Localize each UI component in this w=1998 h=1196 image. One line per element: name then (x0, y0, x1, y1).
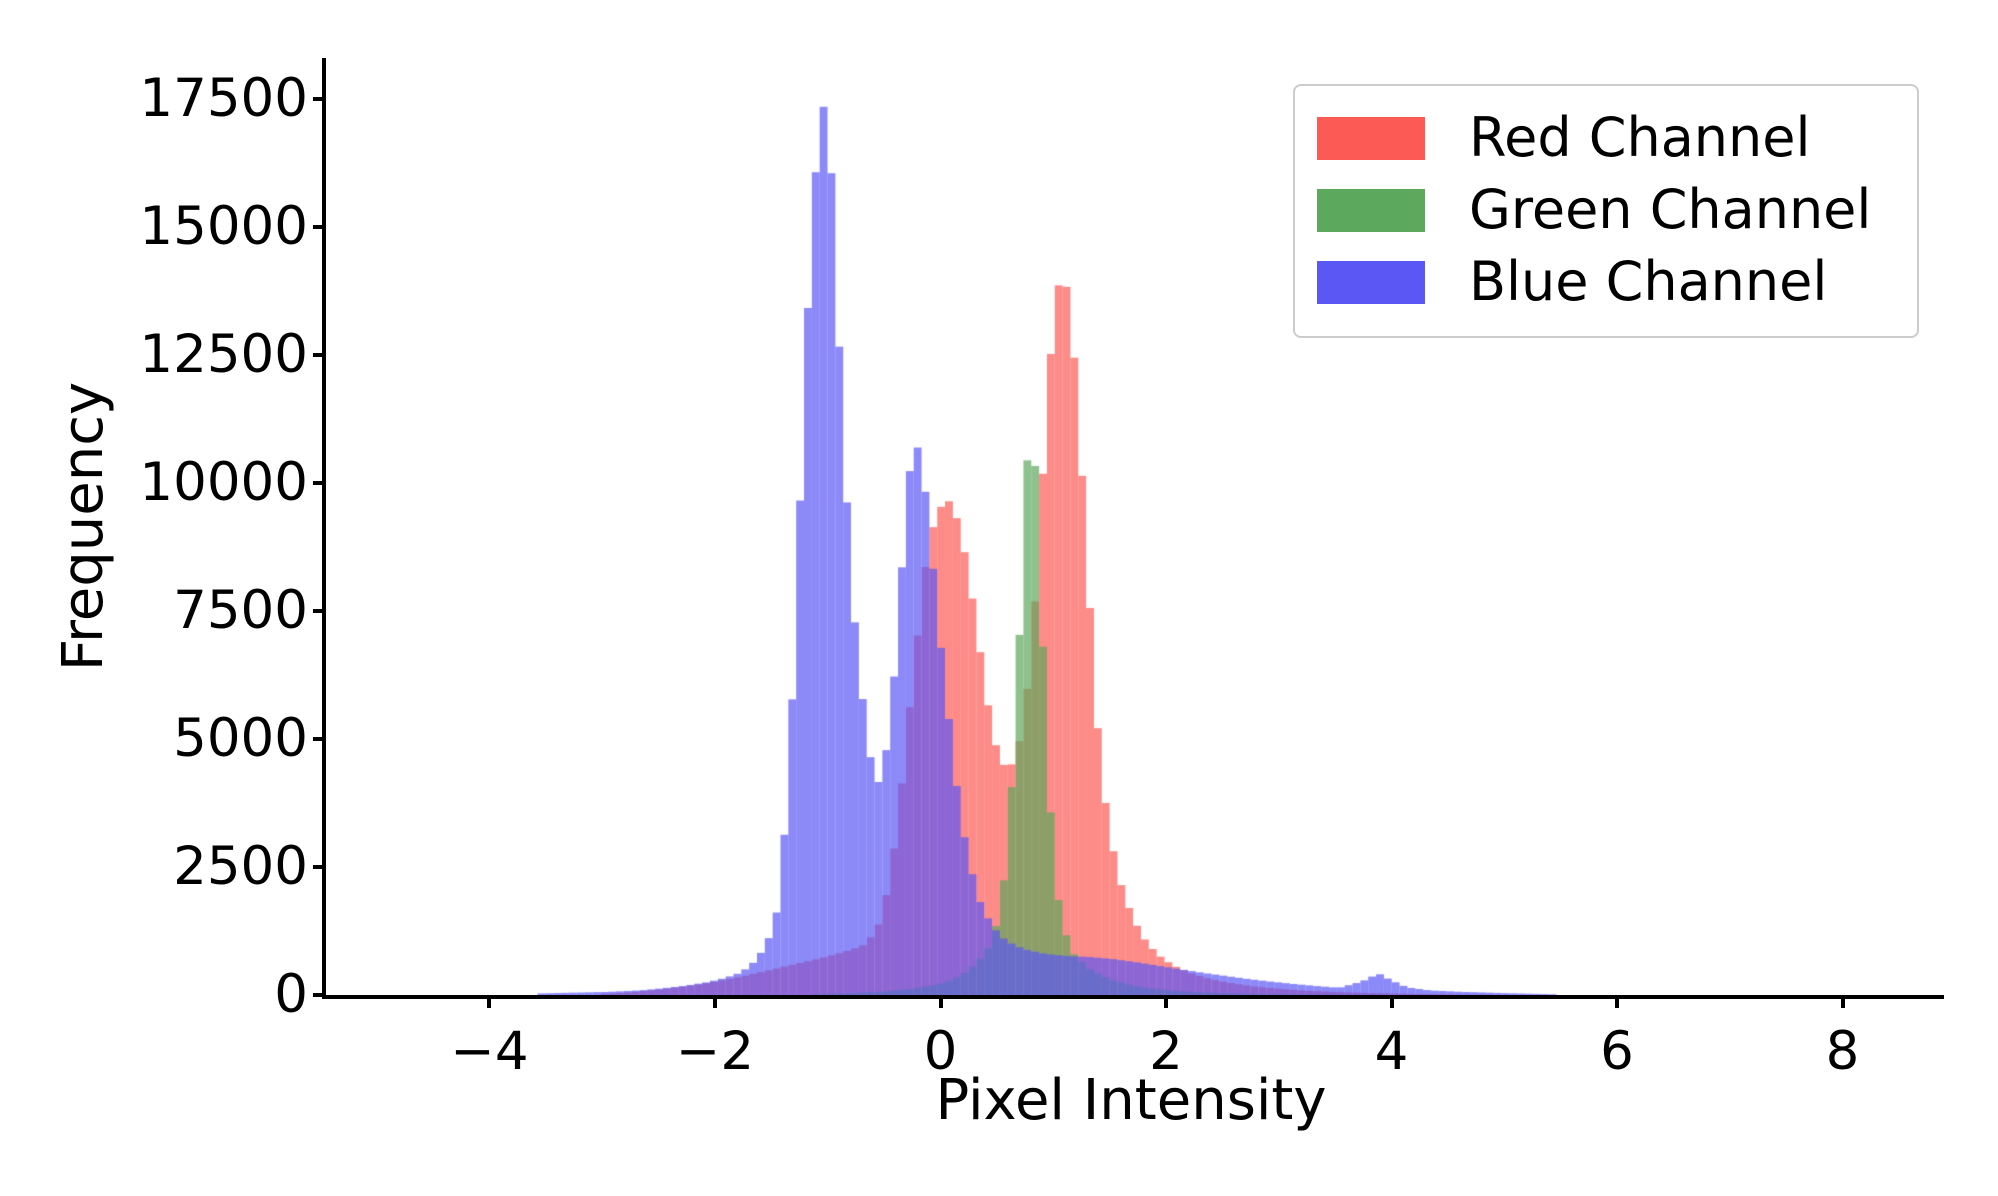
y-tick-mark (313, 97, 326, 101)
y-tick-mark (313, 865, 326, 869)
x-tick-mark (1841, 995, 1845, 1008)
y-tick-mark (313, 993, 326, 997)
y-tick-mark (313, 225, 326, 229)
x-tick-mark (1615, 995, 1619, 1008)
legend-swatch-red (1317, 117, 1425, 160)
x-tick-mark (713, 995, 717, 1008)
x-tick-mark (1164, 995, 1168, 1008)
legend-item-red-channel: Red Channel (1317, 102, 1895, 174)
y-axis-label-text: Frequency (52, 382, 117, 671)
legend-item-blue-channel: Blue Channel (1317, 246, 1895, 318)
y-tick-mark (313, 609, 326, 613)
y-tick-mark (313, 481, 326, 485)
chart-legend: Red Channel Green Channel Blue Channel (1293, 84, 1919, 338)
legend-label-green: Green Channel (1469, 183, 1871, 237)
histogram-figure: Frequency 025005000750010000125001500017… (0, 0, 1998, 1196)
x-axis-label: Pixel Intensity (322, 1068, 1940, 1133)
legend-swatch-green (1317, 189, 1425, 232)
legend-label-red: Red Channel (1469, 111, 1810, 165)
legend-label-blue: Blue Channel (1469, 255, 1827, 309)
x-tick-mark (939, 995, 943, 1008)
y-tick-mark (313, 737, 326, 741)
y-tick-mark (313, 353, 326, 357)
x-tick-mark (1390, 995, 1394, 1008)
x-tick-mark (487, 995, 491, 1008)
y-axis-label: Frequency (54, 58, 114, 995)
legend-swatch-blue (1317, 261, 1425, 304)
legend-item-green-channel: Green Channel (1317, 174, 1895, 246)
